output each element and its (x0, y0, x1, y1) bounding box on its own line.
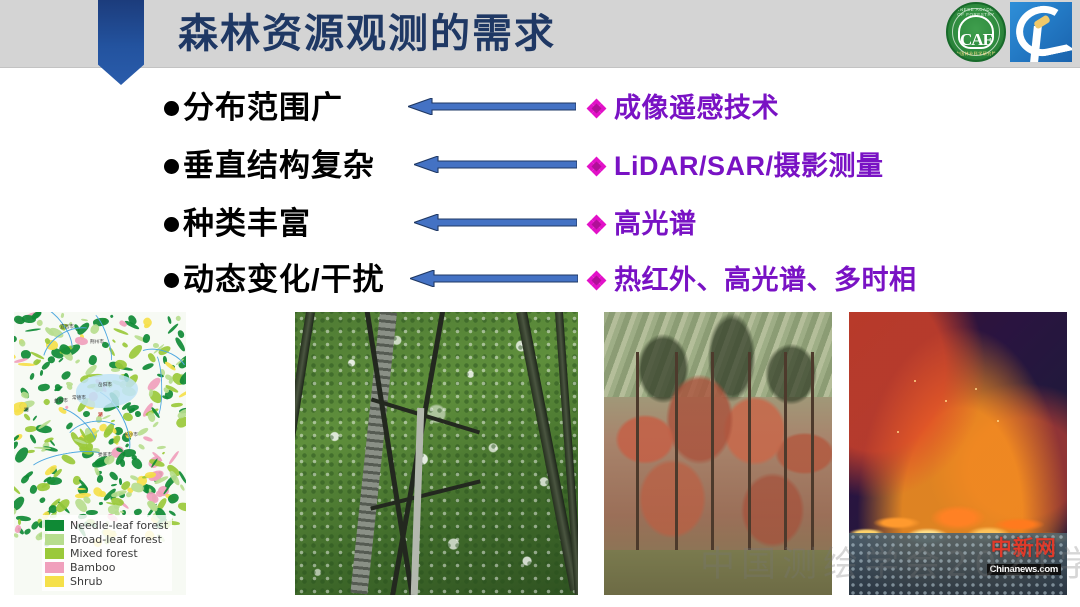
map-vegetation-patch (113, 327, 129, 335)
left-arrow-icon (414, 156, 577, 173)
map-city-label: 常德市 (72, 395, 86, 401)
map-vegetation-patch (179, 484, 185, 491)
diamond-bullet-icon (588, 100, 605, 117)
map-vegetation-patch (22, 413, 31, 422)
map-vegetation-patch (174, 336, 186, 353)
legend-row: Bamboo (45, 560, 168, 574)
title-ribbon-marker (98, 0, 144, 85)
technology-label: 高光谱 (614, 207, 697, 241)
chinese-academy-of-forestry-logo: CHINESE ACADEMY OF FORESTRY CAF 中国林业科学研究… (946, 2, 1006, 62)
logo-group: CHINESE ACADEMY OF FORESTRY CAF 中国林业科学研究… (946, 2, 1072, 62)
map-vegetation-patch (99, 502, 104, 506)
forest-canopy-flux-tower-image (295, 312, 578, 595)
technology-item-1: 成像遥感技术 (588, 91, 779, 125)
map-vegetation-patch (135, 411, 142, 418)
map-vegetation-patch (111, 483, 118, 486)
technology-item-3: 高光谱 (588, 207, 697, 241)
map-vegetation-patch (60, 313, 64, 318)
page-title: 森林资源观测的需求 (178, 8, 556, 60)
map-city-label: 宜昌市 (60, 324, 74, 330)
diamond-bullet-icon (588, 272, 605, 289)
map-vegetation-patch (39, 496, 47, 503)
ember (997, 420, 999, 422)
map-vegetation-patch (129, 474, 139, 481)
pine-trunk (784, 352, 787, 573)
map-vegetation-patch (43, 398, 52, 406)
requirement-label: 分布范围广 (183, 89, 343, 127)
left-arrow-icon (410, 270, 578, 287)
seal-arc-bottom-text: 中国林业科学研究院 (948, 51, 1004, 57)
legend-row: Mixed forest (45, 546, 168, 560)
chinanews-logo-cn: 中新网 (987, 537, 1061, 559)
map-legend: Needle-leaf forestBroad-leaf forestMixed… (42, 515, 172, 591)
technology-label: LiDAR/SAR/摄影测量 (614, 149, 884, 183)
requirement-row: 种类丰富 高光谱 (0, 196, 1080, 252)
technology-label: 成像遥感技术 (614, 91, 779, 125)
map-city-label: 荆州市 (90, 339, 104, 345)
map-vegetation-patch (18, 519, 21, 525)
pine-trunk (811, 352, 814, 573)
legend-swatch (45, 576, 64, 587)
round-bullet-icon (164, 101, 179, 116)
map-vegetation-patch (144, 324, 151, 329)
legend-label: Bamboo (70, 561, 115, 574)
map-city-label: 湘 (24, 407, 29, 413)
map-vegetation-patch (14, 335, 17, 343)
legend-label: Mixed forest (70, 547, 138, 560)
chinanews-watermark-logo: 中新网 Chinanews.com (987, 537, 1061, 577)
map-vegetation-patch (96, 475, 104, 485)
requirement-item-3: 种类丰富 (164, 205, 311, 243)
technology-label: 热红外、高光谱、多时相 (614, 263, 917, 297)
map-vegetation-patch (32, 415, 37, 421)
legend-label: Shrub (70, 575, 102, 588)
map-vegetation-patch (110, 314, 115, 319)
round-bullet-icon (164, 159, 179, 174)
map-vegetation-patch (170, 402, 182, 408)
pine-trunk (748, 352, 751, 573)
map-vegetation-patch (175, 315, 182, 322)
diamond-bullet-icon (588, 158, 605, 175)
legend-row: Broad-leaf forest (45, 532, 168, 546)
requirement-label: 动态变化/干扰 (183, 261, 385, 299)
map-vegetation-patch (37, 383, 50, 392)
map-vegetation-patch (142, 435, 153, 442)
map-city-label: 湖 (98, 412, 103, 418)
map-vegetation-patch (14, 484, 21, 495)
map-vegetation-patch (168, 450, 180, 465)
map-vegetation-patch (18, 338, 26, 347)
left-arrow-icon (408, 98, 576, 115)
map-vegetation-patch (108, 470, 119, 481)
legend-swatch (45, 562, 64, 573)
round-bullet-icon (164, 217, 179, 232)
map-city-label: 娄底市 (98, 452, 112, 458)
legend-label: Needle-leaf forest (70, 519, 168, 532)
map-vegetation-patch (14, 408, 24, 417)
map-vegetation-patch (157, 445, 167, 449)
requirement-row: 分布范围广 成像遥感技术 (0, 80, 1080, 136)
pest-damaged-pine-forest-image (604, 312, 832, 595)
requirement-item-4: 动态变化/干扰 (164, 261, 385, 299)
diamond-bullet-icon (588, 216, 605, 233)
map-vegetation-patch (161, 451, 165, 455)
map-vegetation-patch (138, 443, 147, 451)
legend-row: Needle-leaf forest (45, 518, 168, 532)
pine-trunk (675, 352, 678, 573)
technology-item-2: LiDAR/SAR/摄影测量 (588, 149, 884, 183)
map-vegetation-patch (14, 440, 19, 450)
map-vegetation-patch (49, 440, 55, 446)
map-city-label: 益阳市 (54, 398, 68, 404)
map-vegetation-patch (112, 339, 116, 343)
chinanews-logo-en: Chinanews.com (987, 564, 1061, 575)
requirement-row: 动态变化/干扰 热红外、高光谱、多时相 (0, 252, 1080, 308)
map-vegetation-patch (141, 333, 151, 344)
needs-technology-rows: 分布范围广 成像遥感技术 垂直结构复杂 LiD (0, 76, 1080, 306)
pine-trunk (711, 352, 714, 573)
pine-trunk (636, 352, 639, 573)
left-arrow-icon (414, 214, 577, 231)
dish-icon (1011, 2, 1072, 61)
requirement-label: 垂直结构复杂 (183, 147, 375, 185)
ember (945, 400, 947, 402)
map-vegetation-patch (153, 421, 160, 428)
satellite-dish-logo (1010, 2, 1072, 62)
map-vegetation-patch (120, 510, 124, 513)
requirement-row: 垂直结构复杂 LiDAR/SAR/摄影测量 (0, 138, 1080, 194)
map-vegetation-patch (29, 373, 36, 382)
legend-swatch (45, 534, 64, 545)
map-vegetation-patch (23, 528, 32, 537)
round-bullet-icon (164, 273, 179, 288)
forest-floor (604, 550, 832, 595)
map-vegetation-patch (77, 488, 86, 490)
map-vegetation-patch (36, 482, 50, 492)
map-vegetation-patch (18, 363, 35, 367)
wildfire-at-night-image: 中新网 Chinanews.com (849, 312, 1067, 595)
legend-swatch (45, 520, 64, 531)
legend-label: Broad-leaf forest (70, 533, 162, 546)
map-vegetation-patch (121, 342, 128, 349)
legend-row: Shrub (45, 574, 168, 588)
map-vegetation-patch (167, 315, 172, 323)
legend-swatch (45, 548, 64, 559)
map-vegetation-patch (29, 433, 37, 443)
map-city-label: 长沙市 (124, 432, 138, 438)
map-vegetation-patch (14, 355, 16, 360)
requirement-label: 种类丰富 (183, 205, 311, 243)
map-vegetation-patch (177, 501, 186, 511)
requirement-item-1: 分布范围广 (164, 89, 343, 127)
technology-item-4: 热红外、高光谱、多时相 (588, 263, 917, 297)
map-vegetation-patch (14, 446, 30, 465)
forest-vegetation-map-image: 宜昌市荆州市岳阳市常德市益阳市湖长沙市娄底市湘 Needle-leaf fore… (14, 312, 186, 595)
requirement-item-2: 垂直结构复杂 (164, 147, 375, 185)
ember (897, 431, 899, 433)
seal-monogram: CAF (948, 30, 1004, 50)
map-vegetation-patch (178, 388, 186, 398)
map-city-label: 岳阳市 (98, 382, 112, 388)
